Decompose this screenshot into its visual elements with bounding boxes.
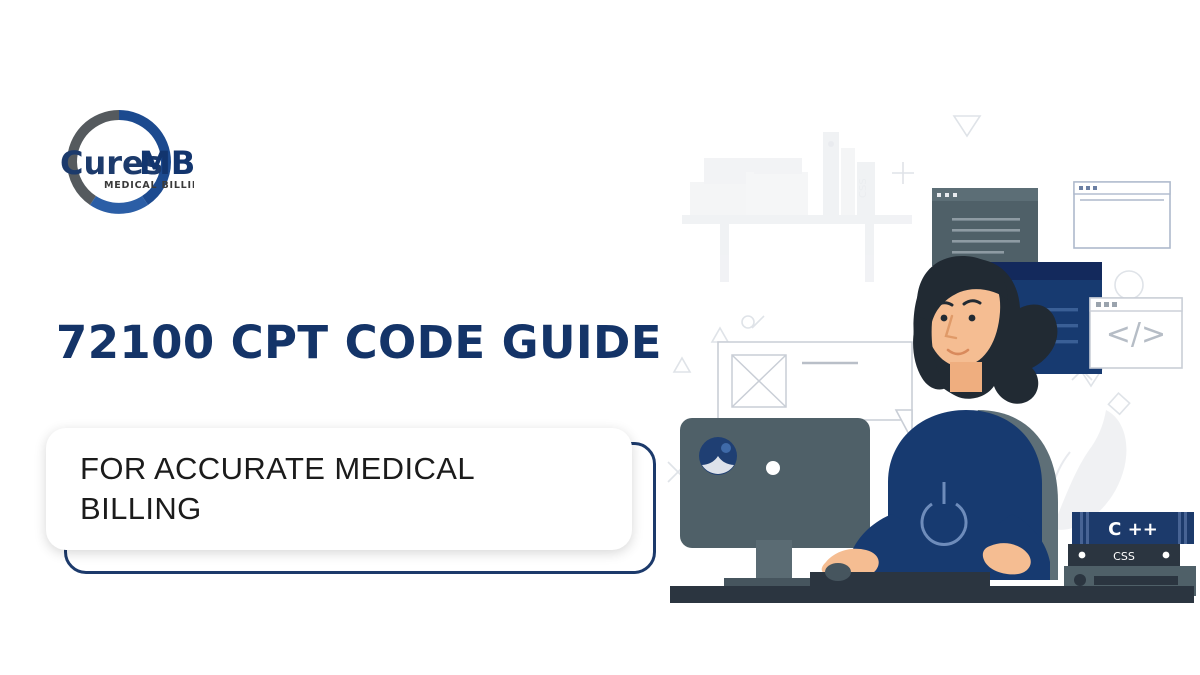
shelf-book-label: CSS: [858, 178, 869, 198]
book-cpp-label: C ++: [1108, 519, 1158, 540]
mouse: [825, 563, 851, 581]
subtitle-card-stack: FOR ACCURATE MEDICAL BILLING: [46, 428, 656, 574]
desk-surface: [670, 586, 1194, 603]
book-cpp: C ++: [1072, 512, 1194, 544]
decorative-leaf: [1049, 410, 1127, 530]
logo-wordmark-mb: MB: [139, 144, 194, 182]
developer-at-desk-illustration: CSS: [660, 110, 1200, 610]
page-title: 72100 CPT CODE GUIDE: [56, 316, 662, 369]
book-css: CSS: [1068, 544, 1180, 566]
light-browser-window: [1074, 182, 1170, 248]
book-css-label: CSS: [1113, 550, 1135, 563]
background-shelf: CSS: [682, 132, 912, 282]
gray-browser-window: [932, 188, 1038, 266]
banner-root: Cures MB MEDICAL BILLING 72100 CPT CODE …: [0, 0, 1200, 675]
subtitle-card: FOR ACCURATE MEDICAL BILLING: [46, 428, 632, 550]
subtitle-text: FOR ACCURATE MEDICAL BILLING: [46, 449, 632, 528]
curesmb-logo[interactable]: Cures MB MEDICAL BILLING: [44, 96, 194, 226]
desk-books: C ++ CSS: [1064, 512, 1196, 596]
logo-tagline: MEDICAL BILLING: [104, 180, 194, 191]
outline-browser-window-small: </>: [1090, 298, 1182, 368]
code-glyph: </>: [1106, 317, 1166, 352]
